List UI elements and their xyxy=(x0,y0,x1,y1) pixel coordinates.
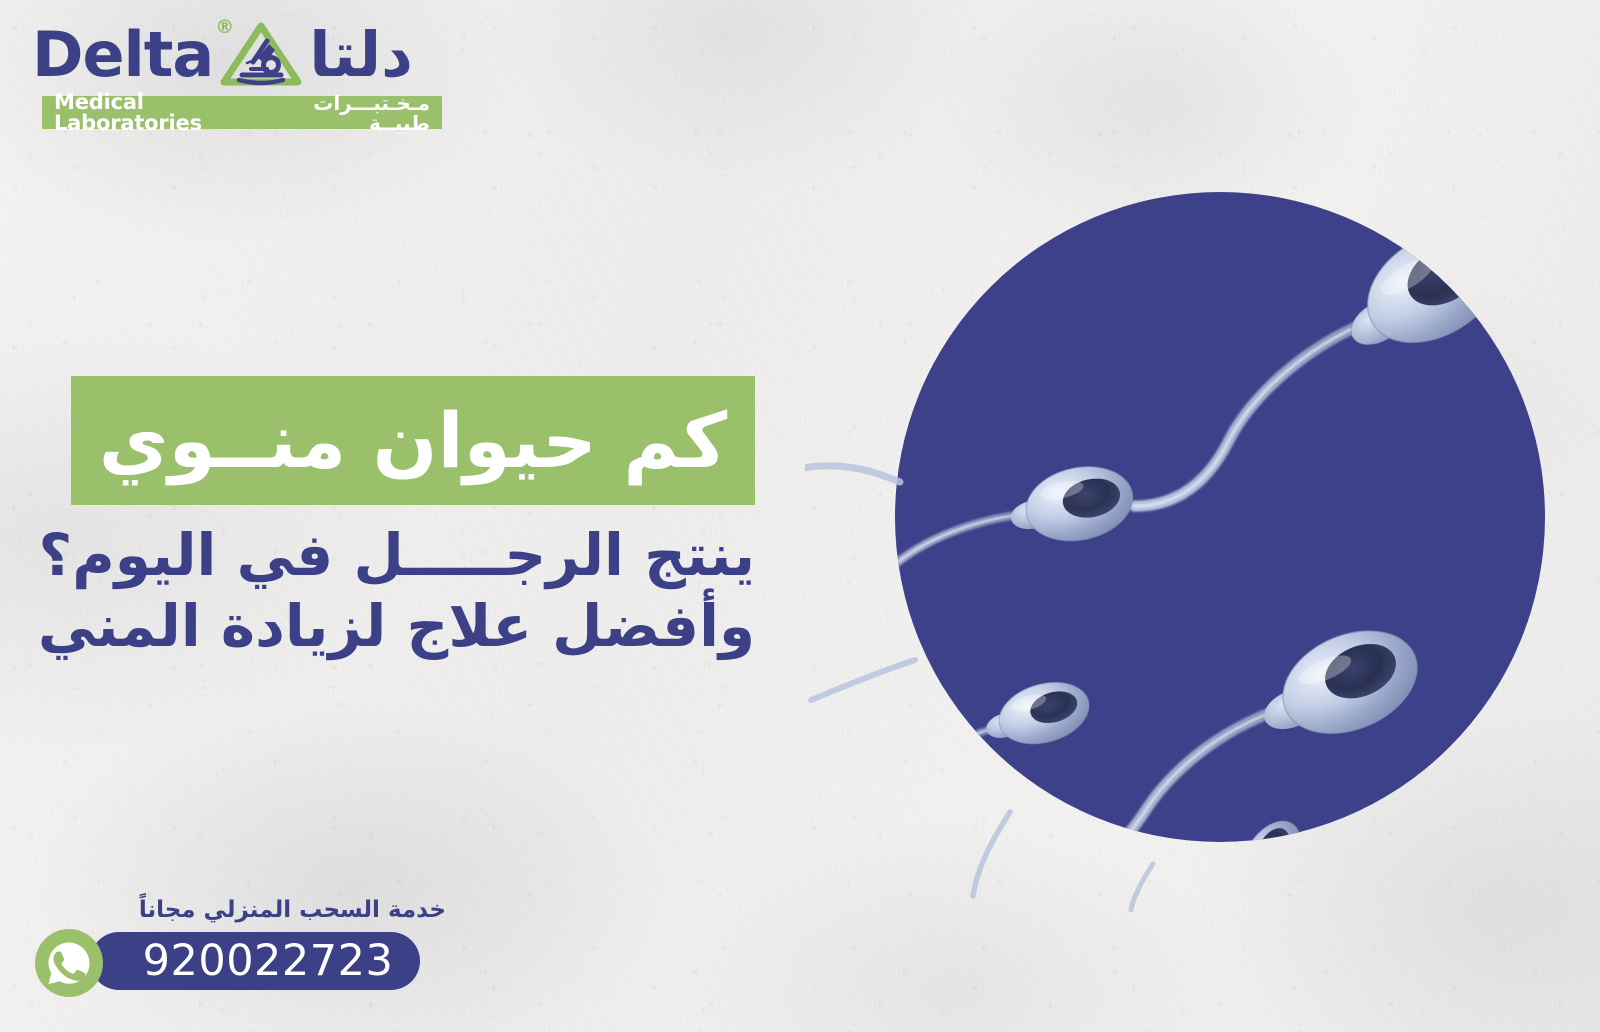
whatsapp-icon[interactable] xyxy=(34,928,104,998)
subheadline-line-1: ينتج الرجـــــل في اليوم؟ xyxy=(65,520,755,591)
registered-trademark-icon: ® xyxy=(215,18,234,37)
subheadline-line-2: وأفضل علاج لزيادة المني xyxy=(65,591,755,662)
contact-block: خدمة السحب المنزلي مجاناً 920022723 xyxy=(34,898,454,992)
sperm-cells-icon xyxy=(805,152,1600,912)
headline-banner-text: كم حيوان منــوي xyxy=(99,403,727,479)
phone-row[interactable]: 920022723 xyxy=(34,928,454,992)
phone-number: 920022723 xyxy=(117,940,394,983)
logo-tagline-en: Medical Laboratories xyxy=(54,92,268,134)
sperm-illustration xyxy=(895,192,1545,842)
logo-name-ar: دلتا xyxy=(309,24,413,86)
headline-banner: كم حيوان منــوي xyxy=(71,376,755,505)
logo-name-en: Delta xyxy=(32,24,213,86)
brand-logo[interactable]: Delta ® دلتا Medical Laboratories مـخـتب… xyxy=(22,16,442,129)
logo-tagline-ar: مـخـتبـــرات طبيــة xyxy=(268,93,430,133)
poster-canvas: Delta ® دلتا Medical Laboratories مـخـتب… xyxy=(0,0,1600,1032)
logo-wordmark-row: Delta ® دلتا xyxy=(22,16,442,94)
subheadline-block: ينتج الرجـــــل في اليوم؟ وأفضل علاج لزي… xyxy=(65,520,755,662)
phone-pill[interactable]: 920022723 xyxy=(90,932,420,990)
home-service-note: خدمة السحب المنزلي مجاناً xyxy=(88,898,454,923)
microscope-in-triangle-icon: ® xyxy=(219,20,303,90)
logo-tagline-bar: Medical Laboratories مـخـتبـــرات طبيــة xyxy=(42,96,442,129)
